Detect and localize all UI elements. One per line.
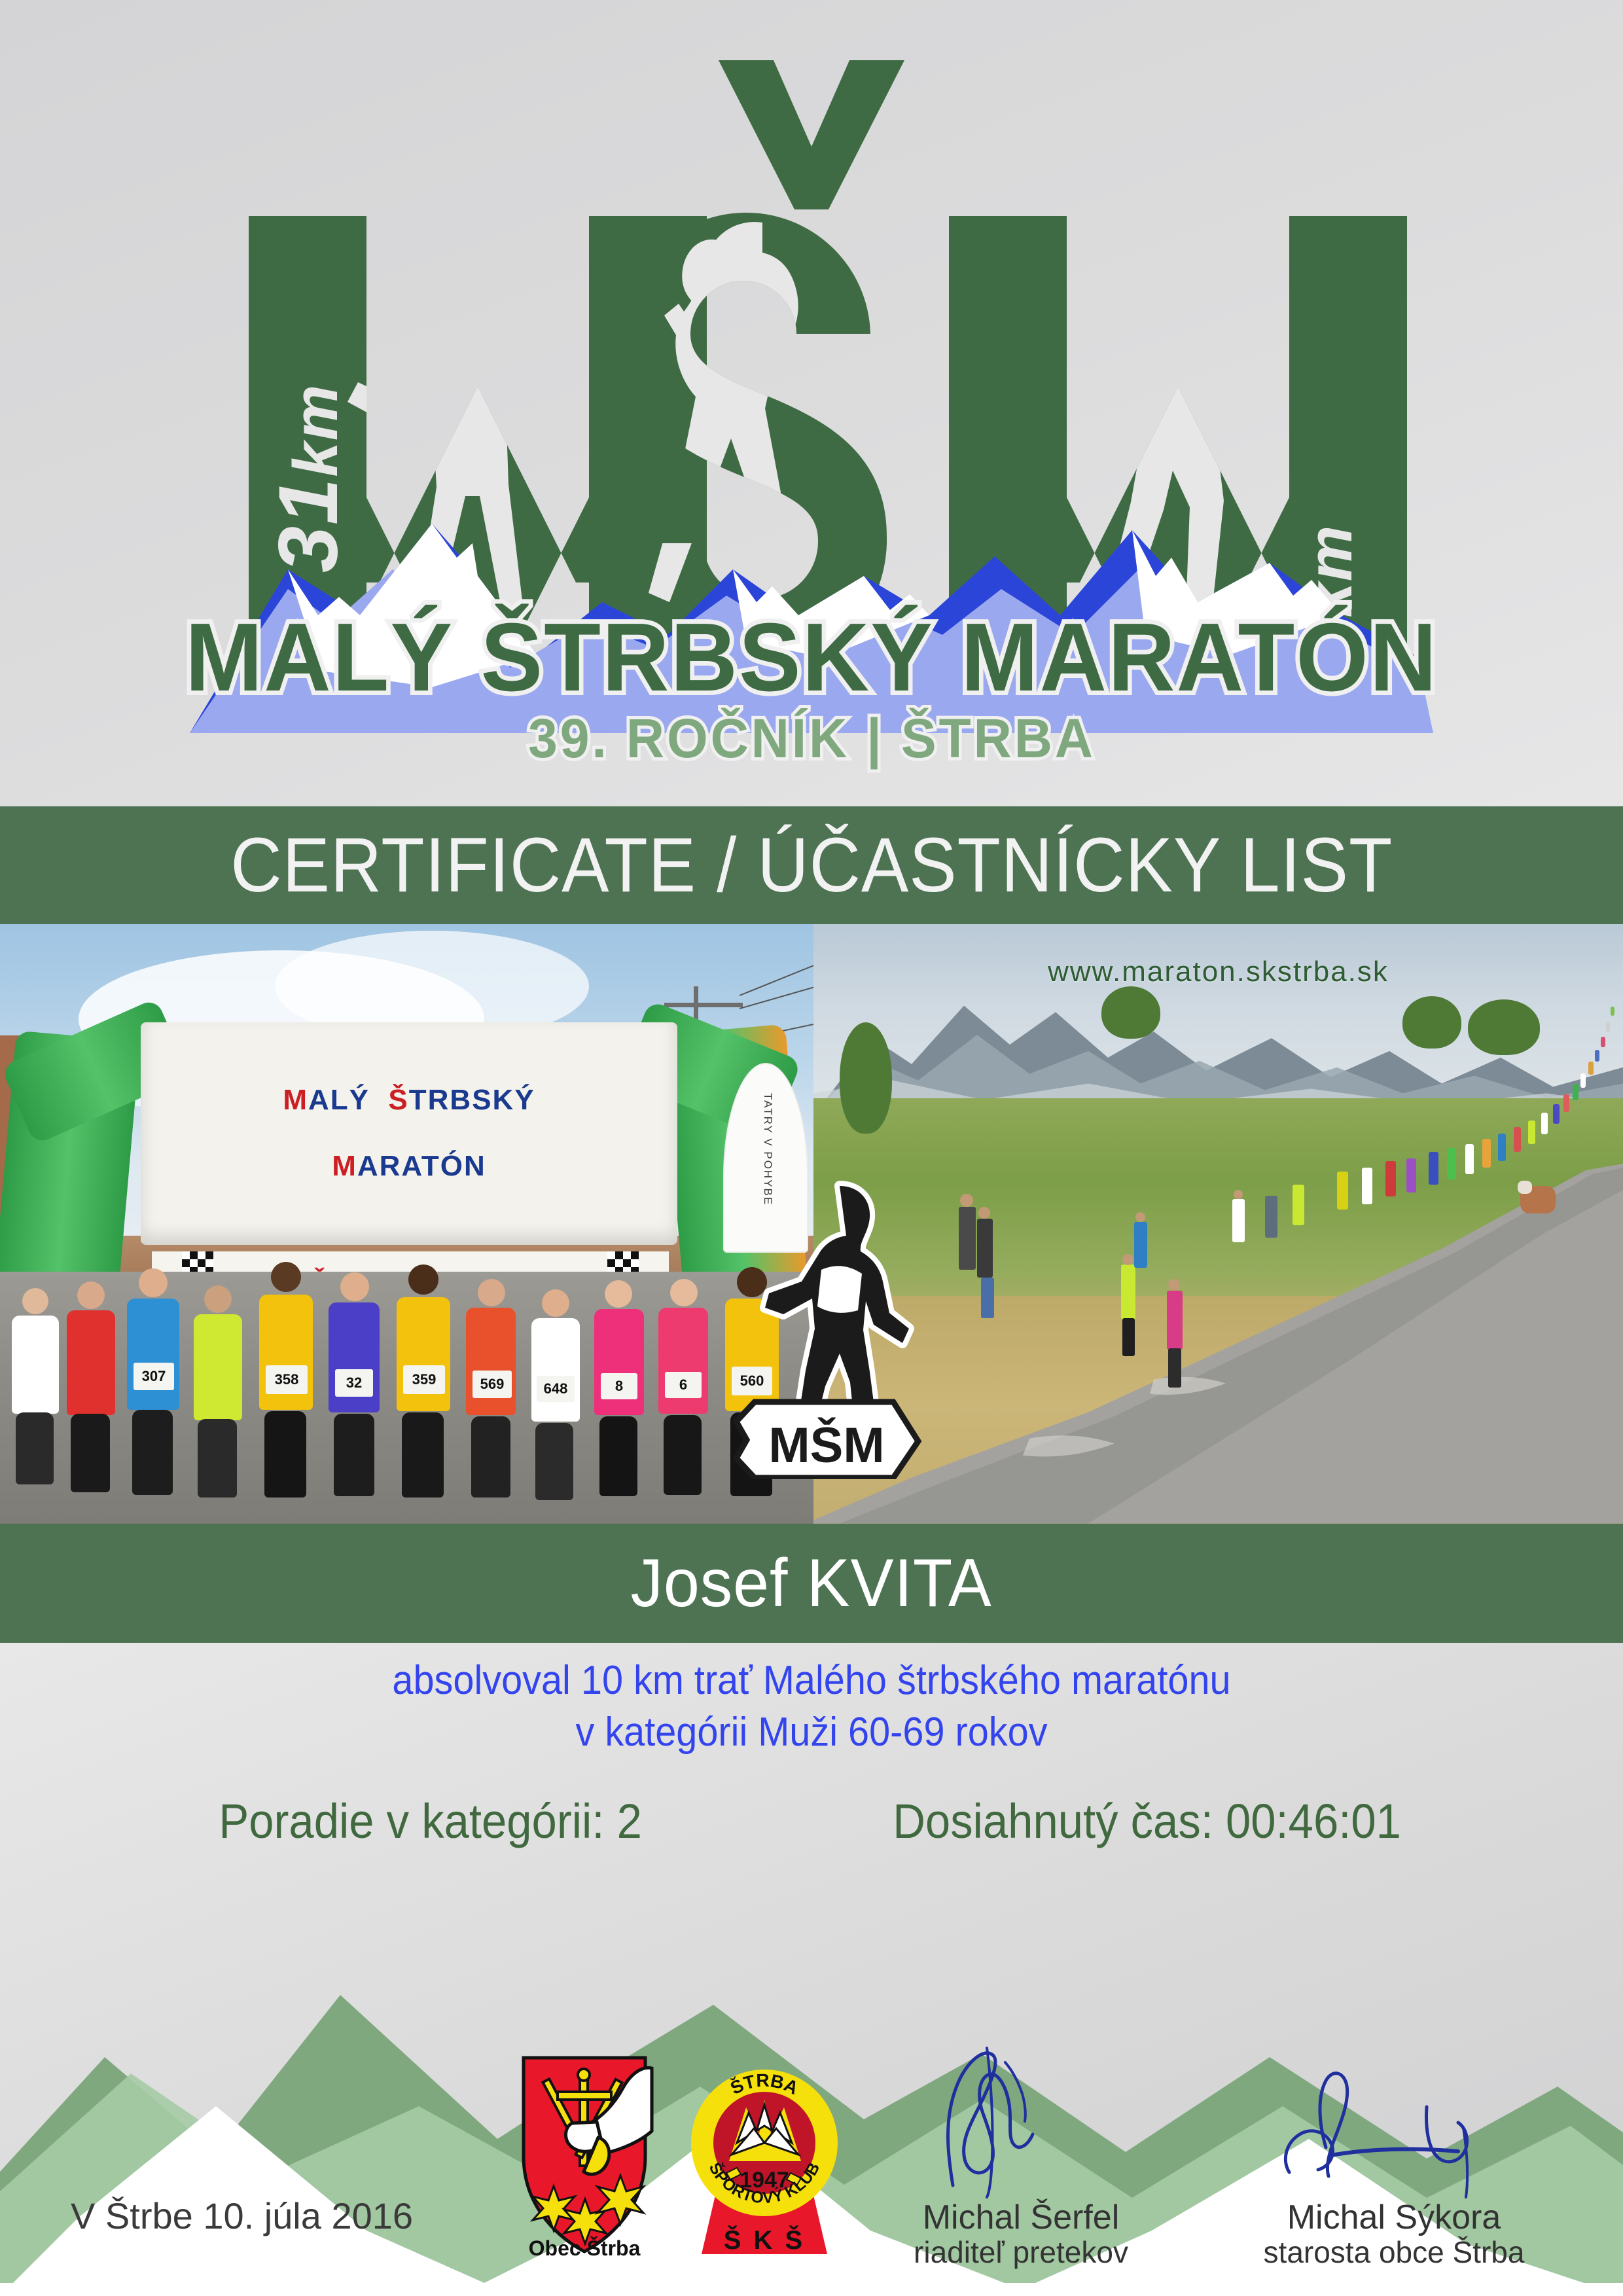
cow-head bbox=[1518, 1181, 1532, 1194]
achievement-line-2: v kategórii Muži 60-69 rokov bbox=[57, 1706, 1566, 1758]
msm-runner-emblem: MŠM bbox=[730, 1172, 946, 1479]
rank-label: Poradie v kategórii: bbox=[219, 1794, 604, 1848]
signature-block-mayor: Michal Sýkora starosta obce Štrba bbox=[1230, 2200, 1558, 2270]
website-url[interactable]: www.maraton.skstrba.sk bbox=[813, 956, 1623, 988]
rank-value: 2 bbox=[616, 1794, 641, 1848]
spectator bbox=[959, 1207, 976, 1270]
pole-crossbar bbox=[664, 1003, 743, 1007]
arch-text-line-1: MALÝ ŠTRBSKÝ bbox=[283, 1084, 535, 1117]
arch-text-line-2: MARATÓN bbox=[332, 1150, 486, 1183]
tree bbox=[1402, 996, 1461, 1049]
signature-ink-serfel bbox=[910, 2036, 1132, 2200]
signature-name: Michal Šerfel bbox=[870, 2200, 1171, 2236]
spectator-head bbox=[960, 1194, 973, 1207]
signature-ink-sykora bbox=[1263, 2049, 1525, 2200]
emblem-text: MŠM bbox=[768, 1418, 884, 1473]
result-row: Poradie v kategórii: 2 Dosiahnutý čas: 0… bbox=[0, 1793, 1623, 1849]
logo-subtitle-row: 39. ROČNÍK | ŠTRBA bbox=[0, 707, 1623, 770]
msm-arrow-banner: MŠM bbox=[736, 1402, 918, 1478]
event-subtitle: 39. ROČNÍK | ŠTRBA bbox=[528, 707, 1096, 770]
signature-role: riaditeľ pretekov bbox=[870, 2235, 1171, 2270]
signature-role: starosta obce Štrba bbox=[1230, 2235, 1558, 2270]
achievement-line-1: absolvoval 10 km trať Malého štrbského m… bbox=[57, 1655, 1566, 1706]
time-result: Dosiahnutý čas: 00:46:01 bbox=[893, 1793, 1401, 1849]
time-label: Dosiahnutý čas: bbox=[893, 1794, 1213, 1848]
event-title: MALÝ ŠTRBSKÝ MARATÓN bbox=[185, 602, 1438, 713]
time-value: 00:46:01 bbox=[1226, 1794, 1401, 1848]
certificate-page: 31km 10km bbox=[0, 0, 1623, 2296]
tree bbox=[1468, 999, 1540, 1055]
certificate-footer: V Štrbe 10. júla 2016 bbox=[0, 2034, 1623, 2296]
participant-name: Josef KVITA bbox=[631, 1545, 992, 1623]
logo-title-row: MALÝ ŠTRBSKÝ MARATÓN bbox=[0, 602, 1623, 713]
tree bbox=[1101, 986, 1160, 1039]
club-initials: Š K Š bbox=[724, 2225, 805, 2255]
arch-banner: MALÝ ŠTRBSKÝ MARATÓN bbox=[141, 1022, 677, 1245]
achievement-text-block: absolvoval 10 km trať Malého štrbského m… bbox=[0, 1655, 1623, 1759]
coat-of-arms-label: Obec Štrba bbox=[529, 2236, 641, 2260]
start-finish-arch-photo: MALÝ ŠTRBSKÝ MARATÓN ŠTART - CIEĽ TATRY … bbox=[0, 924, 813, 1524]
certificate-title: CERTIFICATE / ÚČASTNÍCKY LIST bbox=[230, 821, 1393, 910]
event-logo-block: 31km 10km bbox=[0, 0, 1623, 805]
rank-result: Poradie v kategórii: 2 bbox=[219, 1793, 642, 1849]
certificate-title-banner: CERTIFICATE / ÚČASTNÍCKY LIST bbox=[0, 806, 1623, 924]
sks-strba-club-logo: 1947 ŠTRBA ŠPORTOVÝ KLUB Š K Š bbox=[686, 2045, 843, 2261]
signature-name: Michal Sýkora bbox=[1230, 2200, 1558, 2236]
participant-name-banner: Josef KVITA bbox=[0, 1524, 1623, 1643]
issue-date: V Štrbe 10. júla 2016 bbox=[71, 2195, 413, 2237]
tree bbox=[840, 1022, 892, 1134]
signature-block-race-director: Michal Šerfel riaditeľ pretekov bbox=[870, 2200, 1171, 2270]
obec-strba-coat-of-arms: Obec Štrba bbox=[509, 2051, 660, 2261]
